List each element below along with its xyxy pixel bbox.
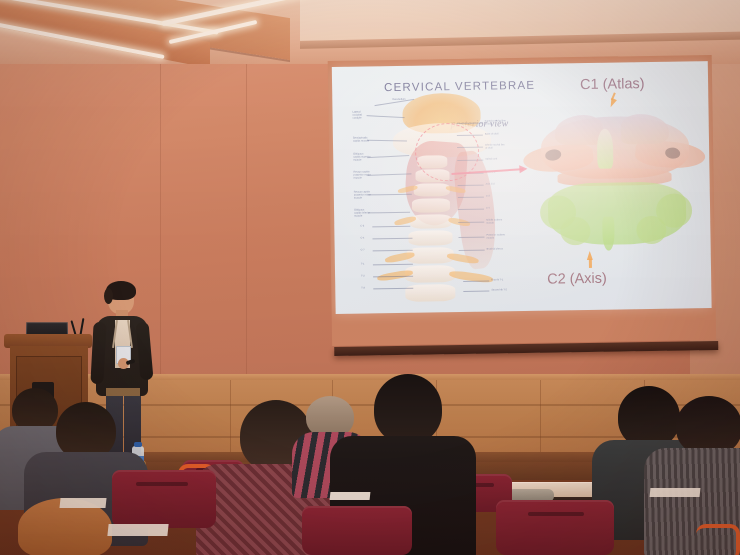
figure-label: C-3 (486, 195, 490, 198)
presentation-slide: CERVICAL VERTEBRAE posterior view (332, 61, 712, 314)
chair (112, 470, 216, 528)
chair (496, 500, 614, 555)
figure-label: Semispinalis capitis muscle (353, 136, 371, 143)
handout-paper (107, 524, 168, 536)
cervical-spine-illustration: Cerebellum Lateral occipital condyle Sem… (352, 92, 505, 309)
presenter-hair (104, 288, 113, 304)
axis-spinous-process (602, 217, 615, 251)
chair (302, 506, 412, 555)
figure-label: Middle scalene muscle (486, 218, 508, 224)
audience-head (374, 374, 442, 444)
figure-label: T-1 (361, 262, 365, 265)
handout-paper (59, 498, 106, 508)
figure-label: Posterior scalene muscle (486, 233, 508, 239)
figure-label: C-4 (486, 207, 490, 210)
figure-label: Rectus capitis posterior minor muscle (354, 190, 372, 200)
dens-odontoid-process (597, 129, 614, 169)
figure-label: Inferior nuchal line of skull (485, 143, 507, 149)
lecture-hall-photo: CERVICAL VERTEBRAE posterior view (0, 0, 740, 555)
chair-handle-slot (528, 512, 584, 516)
figure-label: Brachial plexus (487, 247, 503, 250)
figure-label: First rib T-1 (491, 278, 503, 281)
atlas-axis-illustration (522, 97, 705, 280)
figure-label: Base of skull (485, 132, 499, 135)
audience-head (676, 396, 740, 456)
figure-label: C-4 (360, 236, 364, 239)
figure-label: Rectus capitis posterior major muscle (353, 170, 371, 180)
figure-label: Obliquus capitis superior muscle (353, 152, 371, 162)
slide-label-c2: C2 (Axis) (547, 271, 607, 288)
atlas-lateral-mass-right (621, 114, 669, 145)
figure-label: Lateral occipital condyle (352, 110, 370, 120)
figure-label: C-7 (361, 248, 365, 251)
figure-label: Second rib T-2 (491, 288, 507, 291)
wainscot-seam (540, 380, 541, 452)
ceiling (0, 0, 740, 64)
figure-label: Cerebellum (392, 98, 405, 101)
screen-surface: CERVICAL VERTEBRAE posterior view (328, 55, 716, 346)
figure-label: Obliquus capitis inferior muscle (354, 208, 372, 218)
figure-label: T-3 (361, 286, 365, 289)
figure-label: Spinal cord (485, 157, 497, 160)
handout-paper (330, 492, 371, 500)
chair-handle-slot (136, 482, 188, 486)
figure-label: C-3 (360, 224, 364, 227)
figure-label: Superior nuchal line of skull (485, 119, 507, 125)
chair-orange-frame (696, 524, 740, 555)
presenter-belt (106, 388, 140, 396)
slide-label-c1: C1 (Atlas) (580, 76, 645, 93)
right-callout-labels: Superior nuchal line of skull Base of sk… (332, 61, 708, 67)
atlas-lateral-mass-left (555, 115, 603, 146)
c2-arrow-stem (589, 259, 592, 268)
handout-paper (650, 488, 701, 497)
figure-label: Axis C-2 (486, 182, 495, 185)
wall-seam (246, 52, 247, 382)
projection-screen: CERVICAL VERTEBRAE posterior view (328, 55, 719, 357)
figure-label: T-2 (361, 274, 365, 277)
